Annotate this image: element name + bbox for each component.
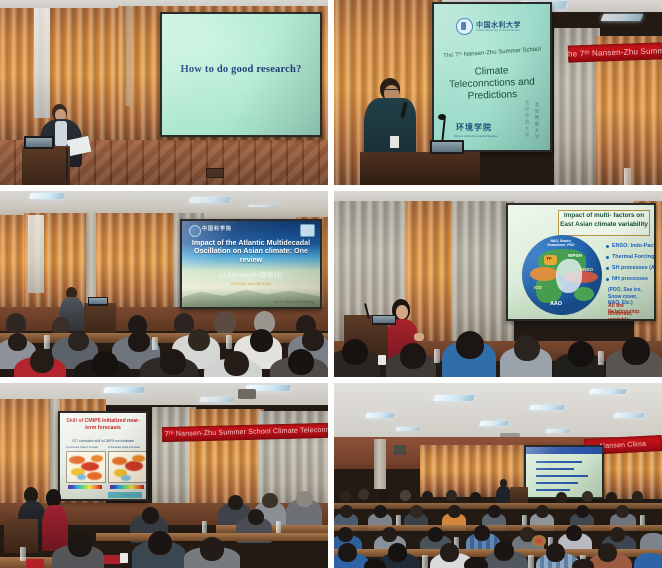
water-bottle <box>434 349 440 363</box>
slide-header-bar <box>526 447 602 454</box>
audience-head <box>388 543 407 562</box>
slide-title: Impact of multi- factors on East Asian c… <box>560 212 648 229</box>
audience-head <box>556 492 567 503</box>
slide-title: Climate Teleconnctions and Predictions <box>433 64 550 103</box>
hall-banner-text: Nansen Clima <box>600 440 647 449</box>
flower-arrangement <box>532 535 546 547</box>
slide-title: Impact of the Atlantic Multidecadal Osci… <box>182 239 320 264</box>
audience-head <box>536 505 549 518</box>
audience-head <box>566 525 582 541</box>
ceiling-light-1 <box>29 193 65 199</box>
slide-subtitle: SST correlation skill in CMIP5 run hindc… <box>66 439 140 443</box>
water-bottle <box>152 337 158 350</box>
colorbar-b <box>110 485 144 489</box>
panel-a-label: a) Forecast Years 1-5 mean <box>66 446 98 449</box>
globe-label-nao-group: NAO, Seaice,Snowcover, PDO <box>532 239 590 248</box>
slide-event-line: The 7ᵗʰ Nansen-Zhu Summer School <box>434 46 550 60</box>
ceiling-light-3 <box>479 421 509 426</box>
speaker-glasses <box>385 89 399 93</box>
forecast-map-a <box>66 451 106 483</box>
ceiling-light-1 <box>103 387 145 393</box>
audience-head <box>340 491 351 502</box>
paper-cup <box>120 553 128 563</box>
bullet-marker-1 <box>606 245 609 248</box>
audience-head <box>142 507 159 524</box>
audience-head <box>546 543 565 562</box>
globe-label-enso: ENSO <box>580 267 593 272</box>
colorbar-a <box>68 485 102 489</box>
slide-bullet-line <box>536 461 582 463</box>
red-chair-back <box>26 559 44 568</box>
laptop <box>372 315 396 325</box>
audience-head <box>358 489 369 500</box>
microphone-capsule <box>438 114 446 120</box>
map-anomaly-cool <box>121 475 131 481</box>
map-anomaly <box>132 455 145 462</box>
audience-head <box>448 505 461 518</box>
globe-label-iod: IOD <box>534 285 542 290</box>
university-name: 中国科学院 <box>202 225 232 232</box>
microphone-stand <box>66 148 68 182</box>
audience-head <box>342 339 368 365</box>
water-bottle <box>226 335 232 349</box>
map-anomaly-cool <box>77 474 86 480</box>
laptop-screen <box>373 316 395 323</box>
hall-banner-text: the 7ᵗʰ Nansen-Zhu Summer School Climate… <box>162 427 328 439</box>
wall-pillar-left <box>374 439 386 489</box>
laptop <box>430 140 464 154</box>
audience-head <box>288 349 314 375</box>
water-bottle <box>20 547 26 561</box>
bullet-marker-3 <box>606 267 609 270</box>
university-logo-subtext: China University of Geosciences <box>476 29 520 32</box>
audience-head <box>488 505 501 518</box>
audience-head <box>514 335 540 361</box>
speaker-shirt <box>55 121 67 147</box>
audience-head <box>188 329 210 351</box>
audience-head <box>248 509 264 525</box>
audience-head <box>68 331 89 351</box>
audience-head <box>400 490 411 501</box>
audience-head <box>302 329 324 351</box>
projection-screen: How to do good research? <box>160 12 322 137</box>
ceiling-light-5 <box>589 389 627 394</box>
audience-head <box>428 527 443 542</box>
ceiling-light-2 <box>189 197 231 203</box>
audience-head <box>610 527 625 542</box>
audience-head <box>622 337 650 365</box>
globe-diagram: NAO, Seaice,Snowcover, PDO TP WPSH ENSO … <box>522 235 602 315</box>
audience-head <box>250 329 273 352</box>
globe-label-aao: AAO <box>550 301 562 307</box>
audience-head <box>616 505 629 518</box>
audience-head <box>340 505 353 518</box>
bullet-3: SH processes (AAO) <box>612 265 656 271</box>
audience-head <box>224 351 249 376</box>
slide-vertical-text-2: 北京师范大学 <box>524 100 530 139</box>
audience-head <box>464 557 488 568</box>
audience-head <box>422 491 433 502</box>
panel-b-label: b) Forecast Years 6-9 mean <box>108 446 140 449</box>
audience-head <box>568 341 594 367</box>
audience-head <box>262 493 278 508</box>
bullet-1: ENSO: Indo-Pacific SST <box>612 243 656 249</box>
slide-affiliation: IGGCAS and IAP/CAS <box>182 281 320 286</box>
speaker-badge <box>390 136 399 148</box>
slide-bullet-line <box>536 475 588 477</box>
institute-emblem <box>300 224 315 237</box>
audience-head <box>382 527 397 542</box>
audience-head <box>576 505 589 518</box>
hall-banner-text: the 7ᵗʰ Nansen-Zhu Summ <box>568 46 662 58</box>
audience-head <box>440 543 459 562</box>
slide-title: Skill of CMIP5 initialized near-term for… <box>64 418 142 433</box>
photo-6-full-hall-wide-view: Nansen Clima <box>334 383 662 568</box>
slide-bullet-line <box>536 482 578 484</box>
photo-3-amo-title-slide: 中国科学院 Impact of the Atlantic Multidecada… <box>0 191 328 377</box>
projector-mount <box>238 389 256 399</box>
audience-head <box>374 505 387 518</box>
globe-label-wpsh: WPSH <box>568 253 582 258</box>
podium <box>360 152 480 185</box>
curtain-left <box>0 215 26 315</box>
closing-line-2: Moderate, unstable <box>608 311 654 321</box>
laptop <box>24 136 54 149</box>
audience-head <box>632 491 643 502</box>
laptop-screen <box>26 138 52 147</box>
bullet-marker-4 <box>606 278 609 281</box>
photo-collage: How to do good research? the 7ᵗʰ Nansen-… <box>0 0 662 568</box>
audience-head <box>160 349 186 375</box>
slide-title: How to do good research? <box>162 64 320 76</box>
projection-screen: 中国科学院 Impact of the Atlantic Multidecada… <box>180 219 322 309</box>
sst-anomaly-warm-1 <box>530 267 558 281</box>
ceiling-light-6 <box>613 413 645 418</box>
map-anomaly <box>87 472 102 480</box>
projection-screen: Skill of CMIP5 initialized near-term for… <box>58 411 148 501</box>
ceiling-light-2 <box>433 395 475 401</box>
audience-head <box>148 531 172 555</box>
audience-head <box>338 527 353 542</box>
slide-bullet-line <box>536 468 574 470</box>
audience-head <box>582 491 593 502</box>
audience-head <box>606 492 617 503</box>
photo-2-title-slide: the 7ᵗʰ Nansen-Zhu Summ 中国水利大学 China Uni… <box>334 0 662 185</box>
audience-row-4 <box>334 505 662 529</box>
bullet-marker-2 <box>606 256 609 259</box>
ceiling-light-3 <box>199 397 235 402</box>
podium <box>22 146 70 185</box>
audience-head <box>214 311 236 335</box>
paper-cup <box>378 355 386 365</box>
audience-head <box>338 543 357 562</box>
laptop-screen <box>89 298 107 304</box>
bullet-2: Thermal Forcing of TP <box>612 254 656 260</box>
globe-label-tp: TP <box>546 256 552 261</box>
cloud-overlay <box>556 259 582 293</box>
map-anomaly <box>125 461 143 471</box>
audience-head <box>6 313 26 335</box>
laptop-screen <box>432 142 462 152</box>
bullet-4: NH processes <box>612 276 648 282</box>
ceiling-light-8 <box>545 429 570 433</box>
ceiling-light-2 <box>601 14 644 21</box>
audience-front-group <box>0 529 328 568</box>
window-gap <box>28 215 44 293</box>
mountain-silhouette <box>182 283 320 307</box>
audience-head <box>410 505 423 518</box>
audience-head <box>92 351 118 377</box>
speaker-face <box>396 305 408 319</box>
ceiling-light-4 <box>529 405 565 410</box>
photo-5-cmip5-skill-slide: the 7ᵗʰ Nansen-Zhu Summer School Climate… <box>0 383 328 568</box>
slide-footer-cn: 环境学院 <box>456 122 492 133</box>
photo-4-multifactor-slide: Impact of multi- factors on East Asian c… <box>334 191 662 377</box>
audience-foreground <box>334 331 662 377</box>
projection-screen: Impact of multi- factors on East Asian c… <box>506 203 656 321</box>
photo-1-lecturer-mint-slide: How to do good research? <box>0 0 328 185</box>
audience-head <box>364 559 386 568</box>
map-anomaly <box>91 455 103 462</box>
water-bottle <box>44 335 50 349</box>
slide-author: LI Shuanglin(李双林) <box>182 269 320 279</box>
curtain-3 <box>452 201 514 351</box>
audience-front-row <box>0 351 328 377</box>
audience-head <box>598 543 617 562</box>
laptop <box>88 297 108 306</box>
ceiling-light-7 <box>395 427 420 431</box>
wall-speaker-box <box>394 445 406 455</box>
audience-head <box>128 331 150 352</box>
window-gap <box>34 8 50 118</box>
audience-head <box>68 533 92 557</box>
audience-head <box>378 491 389 502</box>
audience-head <box>400 343 426 369</box>
audience-head <box>30 349 54 373</box>
forecast-map-b <box>108 451 148 483</box>
wall-pillar <box>125 6 132 106</box>
audience-head <box>8 333 27 351</box>
university-crest <box>189 225 201 237</box>
audience-head <box>446 490 457 501</box>
water-bottle <box>624 168 631 185</box>
slide-footer-bar <box>108 492 142 498</box>
audience-head <box>200 537 224 561</box>
ceiling-light-1 <box>365 413 395 418</box>
curtain-3 <box>96 213 178 315</box>
audience-head <box>296 491 313 507</box>
audience-head <box>572 559 594 568</box>
university-logo-glyph <box>461 22 466 30</box>
hall-banner: the 7ᵗʰ Nansen-Zhu Summ <box>568 42 662 62</box>
audience-head <box>474 525 490 541</box>
slide-footer-en: School of Environmental Studies <box>454 134 497 138</box>
water-bottle <box>598 351 604 365</box>
audience-head <box>470 492 481 503</box>
audience-head <box>456 331 484 359</box>
screen-roller <box>160 12 322 14</box>
projection-screen: 中国水利大学 China University of Geosciences T… <box>432 2 552 152</box>
slide-vertical-text: 北京师范大学 <box>534 102 540 141</box>
audience-head <box>494 541 514 561</box>
floor-vent <box>206 168 224 178</box>
